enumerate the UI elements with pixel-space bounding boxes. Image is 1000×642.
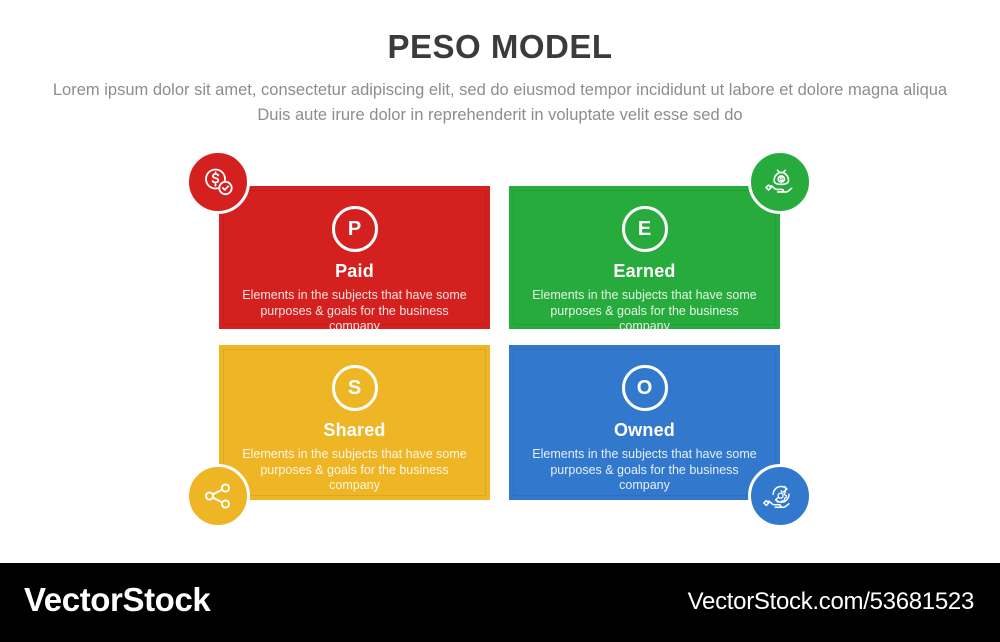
card-title-earned: Earned xyxy=(527,261,762,282)
infographic-canvas: PESO MODEL Lorem ipsum dolor sit amet, c… xyxy=(0,0,1000,642)
hand-gear-icon[interactable] xyxy=(748,464,812,528)
card-description-owned: Elements in the subjects that have some … xyxy=(527,447,762,494)
card-body: E Earned Elements in the subjects that h… xyxy=(509,186,780,335)
hand-money-bag-icon[interactable] xyxy=(748,150,812,214)
card-body: S Shared Elements in the subjects that h… xyxy=(219,345,490,494)
card-paid[interactable]: P Paid Elements in the subjects that hav… xyxy=(219,186,490,329)
card-title-shared: Shared xyxy=(237,420,472,441)
letter-badge-shared: S xyxy=(332,365,378,411)
card-owned[interactable]: O Owned Elements in the subjects that ha… xyxy=(509,345,780,500)
vectorstock-url: VectorStock.com/53681523 xyxy=(688,588,974,616)
card-earned[interactable]: E Earned Elements in the subjects that h… xyxy=(509,186,780,329)
card-description-paid: Elements in the subjects that have some … xyxy=(237,288,472,335)
card-shared[interactable]: S Shared Elements in the subjects that h… xyxy=(219,345,490,500)
vectorstock-logo: VectorStock xyxy=(24,581,210,619)
letter-badge-paid: P xyxy=(332,206,378,252)
page-title: PESO MODEL xyxy=(0,28,1000,66)
dollar-check-icon[interactable] xyxy=(186,150,250,214)
page-subtitle: Lorem ipsum dolor sit amet, consectetur … xyxy=(50,78,950,128)
card-title-owned: Owned xyxy=(527,420,762,441)
card-description-earned: Elements in the subjects that have some … xyxy=(527,288,762,335)
card-description-shared: Elements in the subjects that have some … xyxy=(237,447,472,494)
card-title-paid: Paid xyxy=(237,261,472,282)
letter-badge-owned: O xyxy=(622,365,668,411)
letter-badge-earned: E xyxy=(622,206,668,252)
card-body: P Paid Elements in the subjects that hav… xyxy=(219,186,490,335)
card-body: O Owned Elements in the subjects that ha… xyxy=(509,345,780,494)
share-network-icon[interactable] xyxy=(186,464,250,528)
footer-bar: VectorStock VectorStock.com/53681523 xyxy=(0,563,1000,642)
